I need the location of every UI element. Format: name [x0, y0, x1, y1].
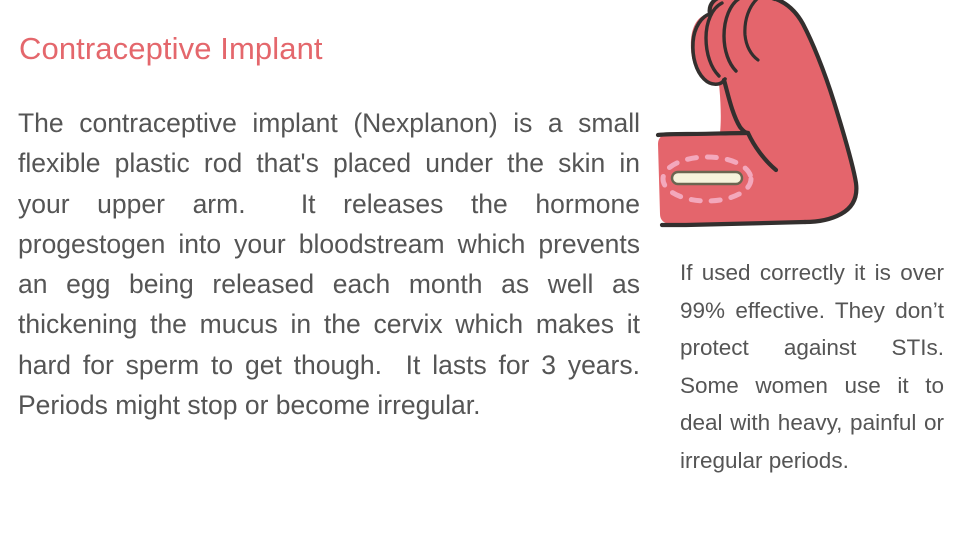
sidebar-paragraph: If used correctly it is over 99% effecti… — [680, 254, 944, 479]
upper-arm-top-outline — [658, 133, 748, 135]
arm-fill-group — [658, 0, 855, 224]
page-title: Contraceptive Implant — [19, 29, 639, 69]
arm-body-shape — [658, 0, 855, 224]
body-paragraph: The contraceptive implant (Nexplanon) is… — [18, 103, 640, 425]
flexed-arm-with-implant-icon — [636, 0, 960, 234]
slide-canvas: Contraceptive Implant The contraceptive … — [0, 0, 960, 540]
implant-rod — [672, 172, 742, 184]
